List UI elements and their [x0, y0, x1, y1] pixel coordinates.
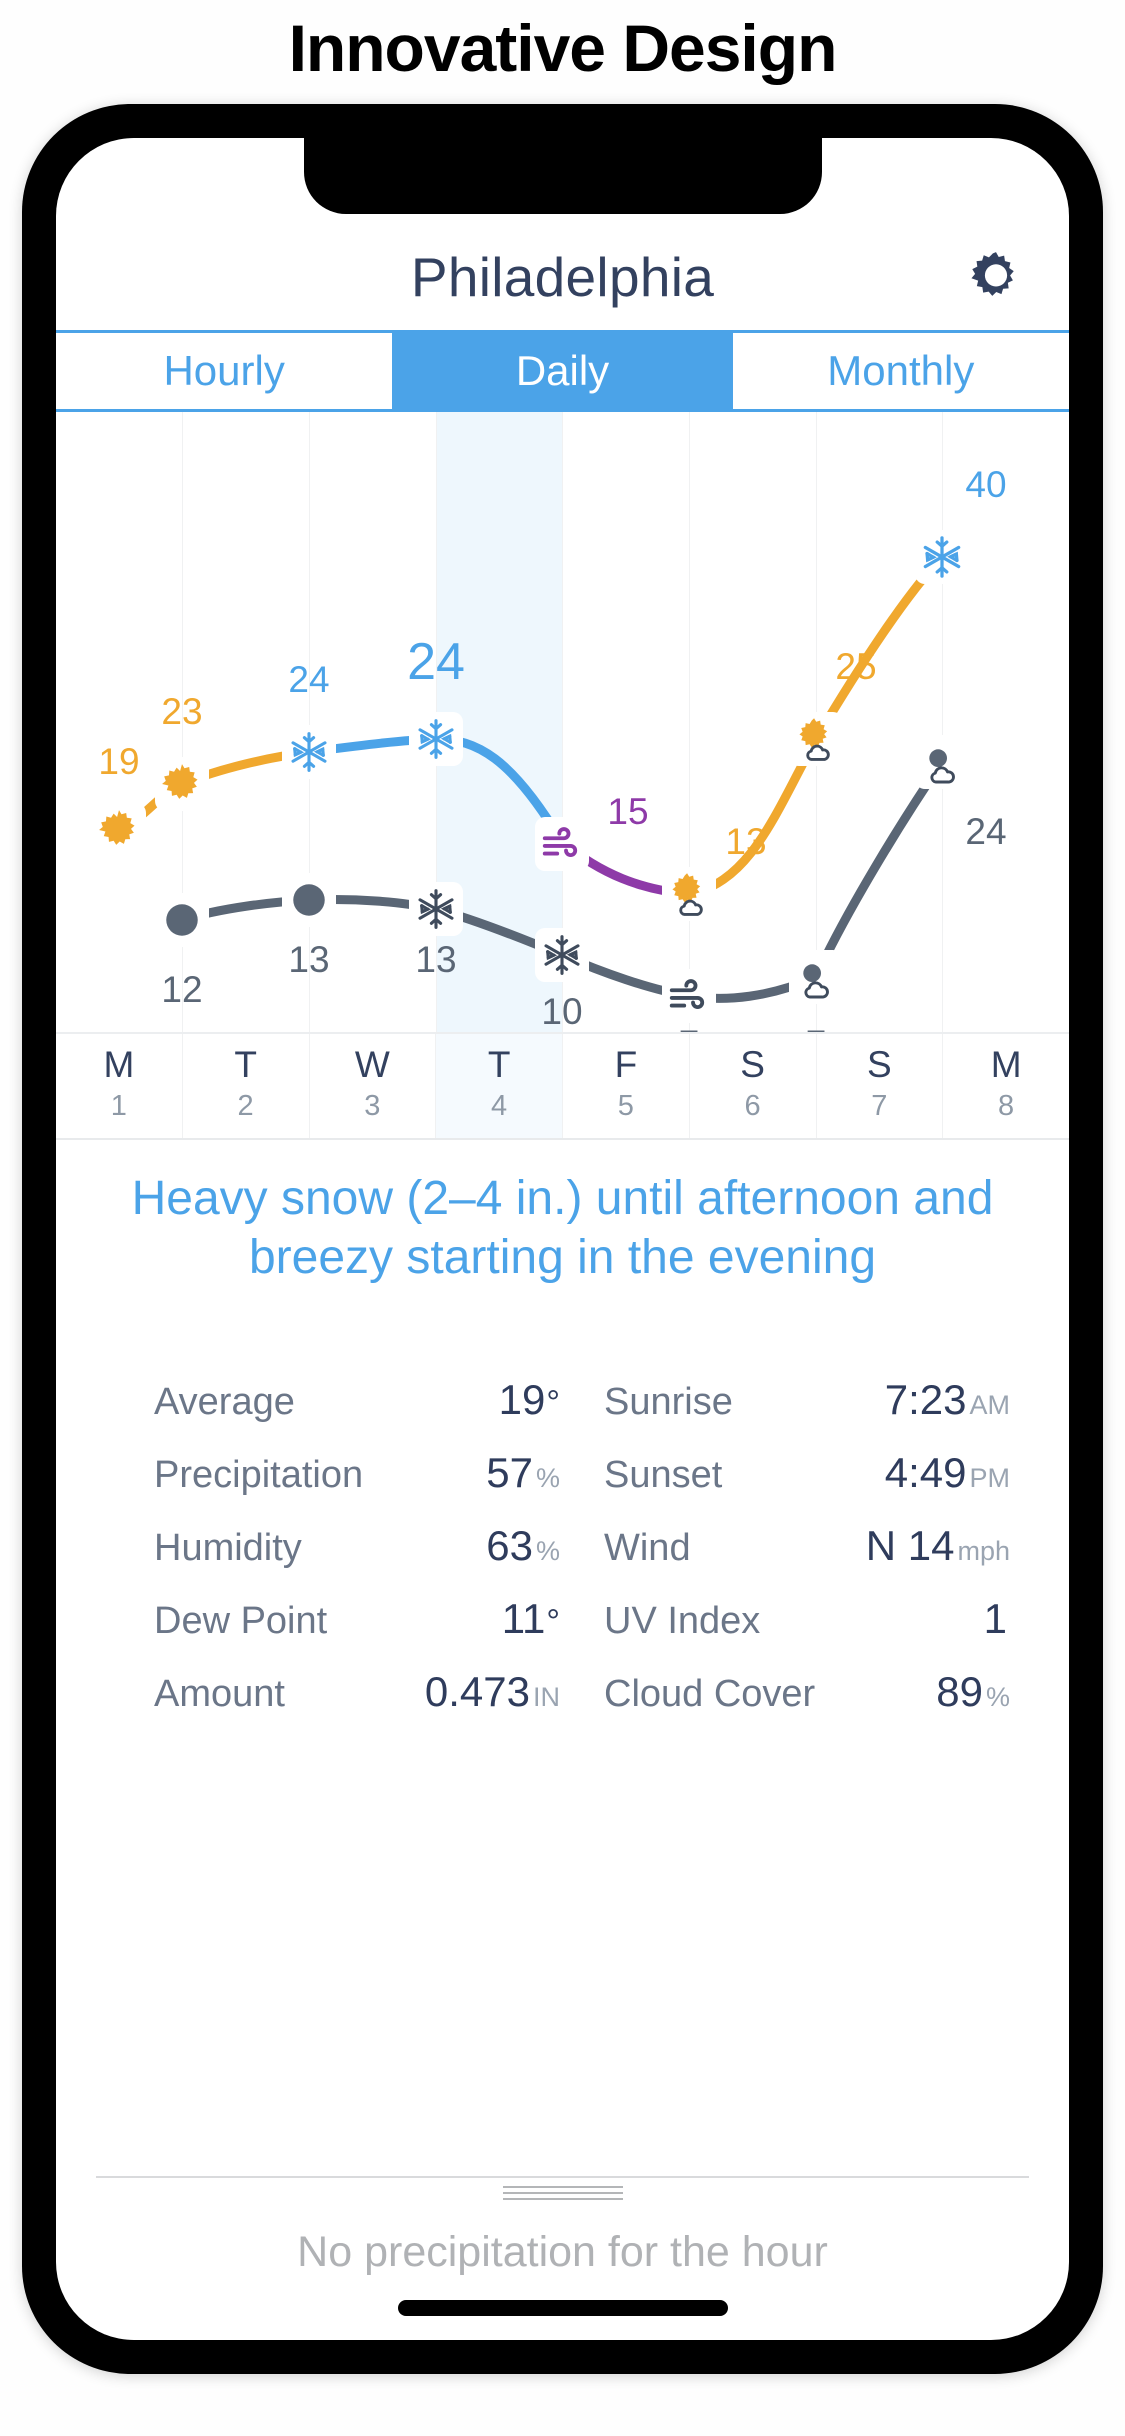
chart-high-label: 40	[965, 464, 1006, 506]
stat-value: 7:23AM	[816, 1376, 1016, 1424]
day-column-4-selected[interactable]: T 4	[436, 1034, 563, 1138]
stat-value: 63%	[366, 1522, 566, 1570]
stat-value: 11°	[366, 1595, 566, 1643]
stat-row-precipitation: Precipitation 57%	[116, 1449, 566, 1522]
nav-bar: Philadelphia	[56, 226, 1069, 328]
stat-value: 89%	[816, 1668, 1016, 1716]
stat-number: 7:23	[885, 1376, 967, 1423]
stat-unit: °	[546, 1384, 560, 1422]
stats-column-left: Average 19° Precipitation 57% Humidity 6…	[116, 1376, 566, 1741]
sun-icon	[92, 803, 146, 857]
tab-daily[interactable]: Daily	[394, 333, 732, 409]
stat-number: 11	[502, 1595, 546, 1642]
tab-hourly[interactable]: Hourly	[56, 333, 394, 409]
day-column-5[interactable]: F 5	[563, 1034, 690, 1138]
chart-low-label: 13	[415, 939, 456, 981]
sheet-divider	[96, 2176, 1029, 2178]
day-number: 6	[745, 1088, 761, 1126]
stat-label: Amount	[116, 1673, 366, 1716]
stat-label: Wind	[566, 1527, 816, 1570]
stat-number: N 14	[866, 1522, 955, 1569]
stat-row-dew-point: Dew Point 11°	[116, 1595, 566, 1668]
screenshot-root: Innovative Design Philadelphia Hourly Da…	[0, 0, 1125, 2436]
page-headline: Innovative Design	[0, 10, 1125, 86]
day-weekday: T	[234, 1046, 257, 1085]
day-number: 1	[111, 1088, 127, 1126]
precipitation-status: No precipitation for the hour	[56, 2228, 1069, 2277]
day-number: 3	[364, 1088, 380, 1126]
chart-high-label-selected: 24	[407, 632, 465, 692]
stat-unit: IN	[533, 1682, 560, 1712]
stat-label: Precipitation	[116, 1454, 366, 1497]
chart-high-label: 23	[161, 691, 202, 733]
stat-row-wind: Wind N 14mph	[566, 1522, 1016, 1595]
stat-number: 4:49	[885, 1449, 967, 1496]
chart-low-label: 12	[161, 969, 202, 1011]
moon-icon	[282, 873, 336, 927]
stat-unit: PM	[970, 1463, 1011, 1493]
day-weekday: W	[355, 1046, 390, 1085]
wind-icon	[535, 817, 589, 871]
stat-number: 63	[486, 1522, 533, 1569]
segmented-tabs[interactable]: Hourly Daily Monthly	[56, 330, 1069, 412]
tab-monthly[interactable]: Monthly	[733, 333, 1069, 409]
stat-row-humidity: Humidity 63%	[116, 1522, 566, 1595]
day-weekday: T	[488, 1046, 511, 1085]
chart-high-label: 19	[98, 741, 139, 783]
snowflake-icon	[915, 530, 969, 584]
chart-low-label: 24	[965, 811, 1006, 853]
snowflake-icon	[282, 725, 336, 779]
stat-number: 89	[936, 1668, 983, 1715]
wind-icon	[662, 969, 716, 1023]
stat-value: 19°	[366, 1376, 566, 1424]
stat-unit: mph	[957, 1536, 1010, 1566]
stat-unit: %	[536, 1536, 560, 1566]
drag-handle[interactable]	[503, 2186, 623, 2198]
chart-high-label: 25	[835, 646, 876, 688]
sun-icon	[155, 757, 209, 811]
day-weekday: S	[867, 1046, 892, 1085]
page-title: Philadelphia	[56, 226, 1069, 328]
moon-icon	[155, 893, 209, 947]
chart-low-label: 13	[288, 939, 329, 981]
day-column-6[interactable]: S 6	[690, 1034, 817, 1138]
day-column-7[interactable]: S 7	[817, 1034, 944, 1138]
day-number: 8	[998, 1088, 1014, 1126]
chart-high-label: 24	[288, 659, 329, 701]
stat-label: Sunrise	[566, 1381, 816, 1424]
stat-value: 0.473IN	[366, 1668, 566, 1716]
chart-high-label: 15	[607, 791, 648, 833]
chart-low-label: 7	[806, 1023, 827, 1032]
day-weekday: M	[103, 1046, 134, 1085]
snowflake-icon	[409, 882, 463, 936]
phone-screen: Philadelphia Hourly Daily Monthly	[56, 138, 1069, 2340]
stat-row-sunrise: Sunrise 7:23AM	[566, 1376, 1016, 1449]
day-number: 7	[871, 1088, 887, 1126]
stats-table: Average 19° Precipitation 57% Humidity 6…	[116, 1376, 1016, 1741]
moon-cloud-icon	[915, 735, 969, 789]
stat-row-sunset: Sunset 4:49PM	[566, 1449, 1016, 1522]
day-column-2[interactable]: T 2	[183, 1034, 310, 1138]
stat-label: Cloud Cover	[566, 1673, 816, 1716]
stat-row-cloud-cover: Cloud Cover 89%	[566, 1668, 1016, 1741]
stat-unit: %	[986, 1682, 1010, 1712]
stat-number: 19	[499, 1376, 546, 1423]
chart-low-label: 10	[541, 991, 582, 1032]
day-number: 2	[238, 1088, 254, 1126]
stat-label: Dew Point	[116, 1600, 366, 1643]
day-column-8[interactable]: M 8	[943, 1034, 1069, 1138]
stat-unit: %	[536, 1463, 560, 1493]
day-axis[interactable]: M 1 T 2 W 3 T 4 F 5	[56, 1032, 1069, 1140]
day-weekday: F	[615, 1046, 638, 1085]
stat-number: 1	[984, 1595, 1007, 1642]
home-indicator[interactable]	[398, 2300, 728, 2316]
stat-row-uv-index: UV Index 1	[566, 1595, 1016, 1668]
chart-high-label: 13	[725, 821, 766, 863]
temperature-chart[interactable]: 19 23 24 24 15 13 25 40 12 13 13 10 7 7 …	[56, 412, 1069, 1032]
phone-notch	[304, 138, 822, 214]
sun-cloud-icon	[662, 867, 716, 921]
day-weekday: S	[740, 1046, 765, 1085]
snowflake-icon	[535, 928, 589, 982]
phone-frame: Philadelphia Hourly Daily Monthly	[22, 104, 1103, 2374]
day-number: 5	[618, 1088, 634, 1126]
stat-row-average: Average 19°	[116, 1376, 566, 1449]
day-weekday: M	[991, 1046, 1022, 1085]
day-column-3[interactable]: W 3	[310, 1034, 437, 1138]
stat-unit: °	[546, 1603, 560, 1641]
stat-value: 1	[816, 1595, 1016, 1643]
snowflake-icon	[409, 712, 463, 766]
stat-value: 57%	[366, 1449, 566, 1497]
stats-column-right: Sunrise 7:23AM Sunset 4:49PM Wind N 14mp…	[566, 1376, 1016, 1741]
sun-cloud-icon	[789, 712, 843, 766]
stat-unit: AM	[970, 1390, 1011, 1420]
stat-label: Average	[116, 1381, 366, 1424]
forecast-summary: Heavy snow (2–4 in.) until afternoon and…	[100, 1170, 1025, 1287]
stat-label: Humidity	[116, 1527, 366, 1570]
day-column-1[interactable]: M 1	[56, 1034, 183, 1138]
stat-value: N 14mph	[816, 1522, 1016, 1570]
day-number: 4	[491, 1088, 507, 1126]
stat-label: UV Index	[566, 1600, 816, 1643]
stat-number: 0.473	[425, 1668, 530, 1715]
stat-label: Sunset	[566, 1454, 816, 1497]
chart-low-label: 7	[679, 1023, 700, 1032]
gear-icon[interactable]	[965, 248, 1027, 310]
moon-cloud-icon	[789, 950, 843, 1004]
stat-number: 57	[486, 1449, 533, 1496]
stat-row-amount: Amount 0.473IN	[116, 1668, 566, 1741]
stat-value: 4:49PM	[816, 1449, 1016, 1497]
